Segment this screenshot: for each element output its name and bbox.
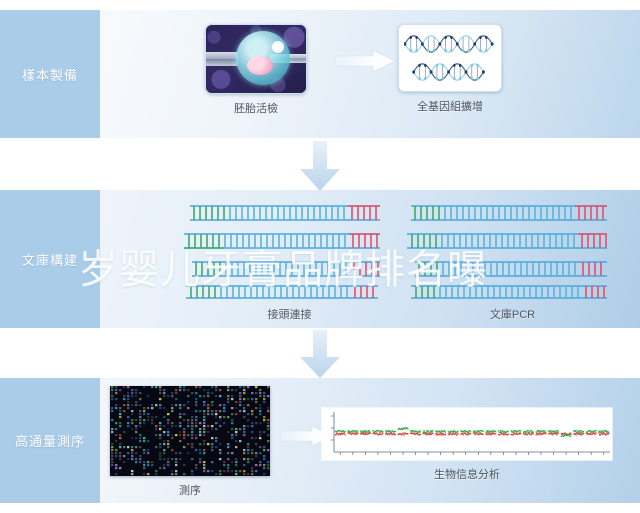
cnv-scatter-chart (322, 408, 612, 460)
dna-helix-image (398, 24, 502, 92)
figure-wga: 全基因組擴增 (398, 24, 502, 114)
polar-body-shape (272, 41, 284, 53)
sequencing-lanes (110, 386, 270, 476)
row-body-sample-prep: 胚胎活檢 (100, 10, 640, 138)
holding-pipette-icon (205, 52, 238, 66)
sequencing-gel-image (110, 386, 270, 476)
row-body-sequencing: 測序 (100, 378, 640, 503)
figure-sequencing: 測序 (110, 386, 270, 498)
arrow-down-icon-row1-row2 (300, 141, 340, 191)
caption-library-pcr: 文庫PCR (490, 306, 535, 322)
workflow-row-library-prep: 文庫構建 (0, 190, 640, 328)
workflow-row-sample-prep: 樣本製備 胚胎活檢 (0, 10, 640, 138)
cnv-plot-svg (322, 408, 612, 460)
caption-wga: 全基因組擴增 (417, 98, 483, 114)
embryo-biopsy-image (205, 24, 307, 94)
row-label-sequencing: 高通量測序 (0, 378, 100, 503)
caption-bioinformatics: 生物信息分析 (434, 466, 500, 482)
row-body-library-prep: 接頭連接 (100, 190, 640, 328)
row-label-sample-prep: 樣本製備 (0, 10, 100, 138)
figure-embryo-biopsy: 胚胎活檢 (205, 24, 307, 116)
inner-cell-mass-shape (247, 56, 273, 75)
workflow-diagram: 樣本製備 胚胎活檢 (0, 0, 640, 513)
caption-adapter-ligation: 接頭連接 (268, 306, 312, 322)
dna-fragment-ladder-left (182, 200, 397, 300)
arrow-right-icon-row1 (335, 50, 395, 72)
arrow-down-icon-row2-row3 (300, 330, 340, 378)
figure-adapter-ligation: 接頭連接 (182, 200, 397, 322)
caption-embryo-biopsy: 胚胎活檢 (234, 100, 278, 116)
row-label-library-prep: 文庫構建 (0, 190, 100, 328)
dna-helix-row-bottom (404, 60, 496, 84)
dna-helix-row-top (404, 32, 496, 56)
figure-library-pcr: 文庫PCR (405, 200, 620, 322)
dna-fragment-ladder-right (405, 200, 620, 300)
figure-bioinformatics: 生物信息分析 (322, 408, 612, 482)
workflow-row-sequencing: 高通量測序 測序 (0, 378, 640, 503)
caption-sequencing: 測序 (179, 482, 201, 498)
